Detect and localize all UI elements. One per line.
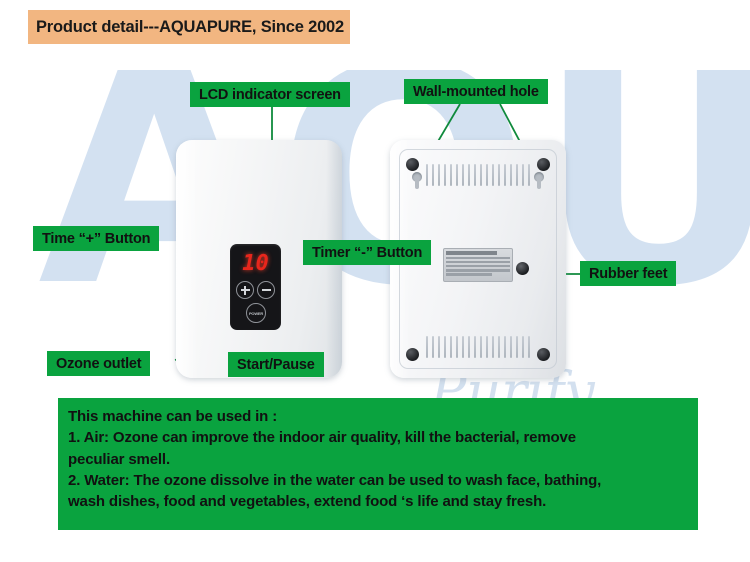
rubber-foot-bottom-right — [537, 348, 550, 361]
rubber-foot-top-right — [537, 158, 550, 171]
front-highlight — [176, 140, 198, 378]
callout-lcd-indicator-screen: LCD indicator screen — [190, 82, 350, 107]
callout-start-pause: Start/Pause — [228, 352, 324, 377]
timer-minus-button[interactable] — [257, 281, 275, 299]
power-icon: POWER — [249, 311, 263, 316]
rating-spec-label — [443, 248, 513, 282]
spec-label-row — [446, 269, 510, 272]
usage-description-block: This machine can be used in : 1. Air: Oz… — [58, 398, 698, 530]
lcd-value: 10 — [242, 253, 269, 275]
product-detail-page: AQUAPURE Purify Product detail---AQUAPUR… — [0, 0, 750, 562]
spec-label-title-bar — [446, 251, 497, 255]
plus-icon-vertical — [244, 286, 246, 295]
description-line: peculiar smell. — [68, 449, 688, 470]
vent-grille-top — [426, 164, 530, 186]
rubber-foot-center-right — [516, 262, 529, 275]
spec-label-row — [446, 261, 510, 264]
description-line: 2. Water: The ozone dissolve in the wate… — [68, 470, 688, 491]
description-line: wash dishes, food and vegetables, extend… — [68, 491, 688, 512]
spec-label-row — [446, 257, 510, 260]
callout-ozone-outlet: Ozone outlet — [47, 351, 150, 376]
minus-icon — [262, 289, 271, 291]
wall-mount-hole-right — [534, 172, 544, 189]
callout-timer-minus-button: Timer “-” Button — [303, 240, 431, 265]
keyhole-slot-icon — [537, 179, 541, 189]
description-line: This machine can be used in : — [68, 406, 688, 427]
wall-mount-hole-left — [412, 172, 422, 189]
page-title: Product detail---AQUAPURE, Since 2002 — [36, 18, 344, 37]
spec-label-row — [446, 273, 492, 276]
rubber-foot-top-left — [406, 158, 419, 171]
start-pause-power-button[interactable]: POWER — [246, 303, 266, 323]
control-panel: 10 POWER — [230, 244, 281, 330]
rubber-foot-bottom-left — [406, 348, 419, 361]
keyhole-slot-icon — [415, 179, 419, 189]
callout-wall-mounted-hole: Wall-mounted hole — [404, 79, 548, 104]
header-banner: Product detail---AQUAPURE, Since 2002 — [28, 10, 350, 44]
callout-rubber-feet: Rubber feet — [580, 261, 676, 286]
time-plus-button[interactable] — [236, 281, 254, 299]
description-line: 1. Air: Ozone can improve the indoor air… — [68, 427, 688, 448]
vent-grille-bottom — [426, 336, 530, 358]
spec-label-row — [446, 265, 510, 268]
lcd-indicator-screen: 10 — [230, 250, 281, 278]
callout-time-plus-button: Time “+” Button — [33, 226, 159, 251]
